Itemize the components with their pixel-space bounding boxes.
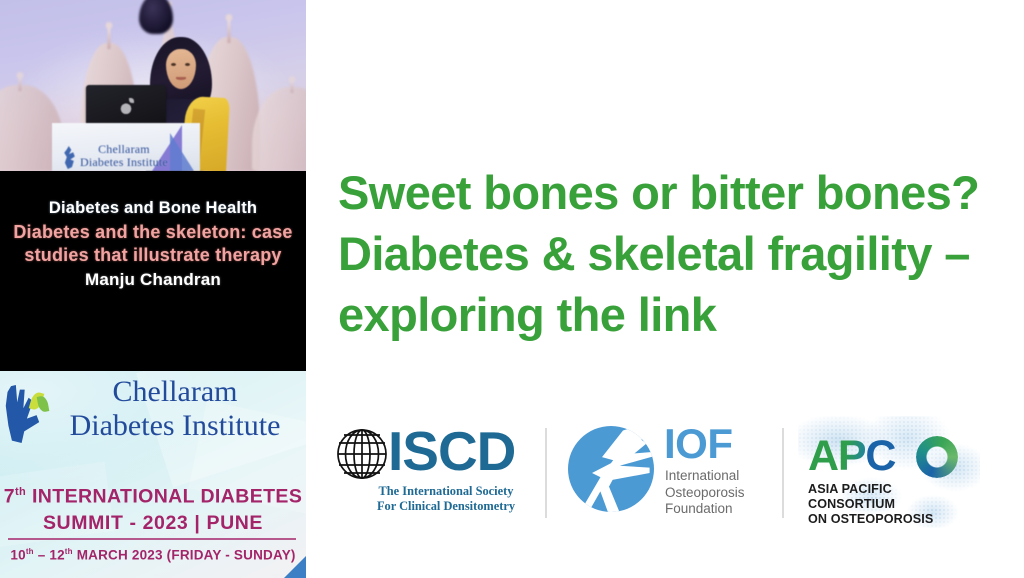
iscd-tagline-line2: For Clinical Densitometry xyxy=(358,499,534,514)
apco-tagline-line1: ASIA PACIFIC CONSORTIUM xyxy=(808,482,980,512)
iof-tagline-line1: International xyxy=(665,468,745,485)
speaker-eye-left xyxy=(171,63,176,66)
caption-line-title-1: Diabetes and the skeleton: case xyxy=(0,221,306,244)
iscd-logo-top: ISCD xyxy=(334,422,534,484)
apco-wordmark: APC xyxy=(808,432,895,480)
globe-wireframe-icon xyxy=(336,428,388,480)
apco-logo[interactable]: APC ASIA PACIFIC CONSORTIUM ON OSTEOPORO… xyxy=(798,416,980,528)
date-end-suffix: th xyxy=(65,547,73,556)
speaker-mouth xyxy=(176,77,186,80)
temple-spire-icon xyxy=(252,79,306,171)
iscd-tagline-line1: The International Society xyxy=(358,484,534,499)
presentation-slide: Chellaram Diabetes Institute Diabetes an… xyxy=(0,0,1024,578)
iscd-tagline: The International Society For Clinical D… xyxy=(358,484,534,514)
chellaram-bird-icon xyxy=(62,146,78,170)
date-separator: – 12 xyxy=(34,548,65,563)
summit-ordinal-suffix: th xyxy=(15,486,26,498)
slide-title: Sweet bones or bitter bones? Diabetes & … xyxy=(338,162,1008,345)
caption-line-topic: Diabetes and Bone Health xyxy=(0,197,306,219)
human-figure-circle-icon xyxy=(568,426,654,512)
conference-poster: Chellaram Diabetes Institute 7th INTERNA… xyxy=(0,371,306,578)
podium-logo-line2: Diabetes Institute xyxy=(80,156,168,169)
summit-ordinal-number: 7 xyxy=(4,486,15,508)
temple-dome-icon xyxy=(139,0,173,34)
apco-letter-p: P xyxy=(838,432,865,480)
poster-divider-rule xyxy=(8,538,296,540)
caption-line-speaker-name: Manju Chandran xyxy=(0,268,306,292)
poster-corner-triangle-icon xyxy=(284,556,306,578)
title-line-1: Sweet bones or bitter bones? xyxy=(338,162,1008,223)
podium-logo-text: Chellaram Diabetes Institute xyxy=(80,143,168,169)
apco-tagline: ASIA PACIFIC CONSORTIUM ON OSTEOPOROSIS xyxy=(808,482,980,527)
date-start-suffix: th xyxy=(26,547,34,556)
iof-logo[interactable]: IOF International Osteoporosis Foundatio… xyxy=(568,420,778,530)
poster-organization-name: Chellaram Diabetes Institute xyxy=(44,375,306,443)
iof-tagline-line2: Osteoporosis xyxy=(665,485,745,502)
apple-leaf-icon xyxy=(129,98,134,103)
iof-wordmark: IOF xyxy=(664,420,733,468)
sponsor-logo-strip: ISCD The International Society For Clini… xyxy=(330,414,990,534)
video-caption-band: Diabetes and Bone Health Diabetes and th… xyxy=(0,171,306,371)
poster-date-line: 10th – 12th MARCH 2023 (FRIDAY - SUNDAY) xyxy=(0,547,306,563)
left-media-column: Chellaram Diabetes Institute Diabetes an… xyxy=(0,0,306,578)
iscd-logo[interactable]: ISCD The International Society For Clini… xyxy=(334,422,534,526)
podium-triangle-blue xyxy=(170,133,194,171)
speaker-video-still[interactable]: Chellaram Diabetes Institute xyxy=(0,0,306,171)
org-name-line2: Diabetes Institute xyxy=(44,409,306,443)
apco-tagline-line2: ON OSTEOPOROSIS xyxy=(808,512,980,527)
caption-line-title-2: studies that illustrate therapy xyxy=(0,244,306,267)
apco-letter-c: C xyxy=(865,432,895,480)
org-name-line1: Chellaram xyxy=(44,375,306,409)
summit-title-line2: SUMMIT - 2023 | PUNE xyxy=(0,510,306,536)
summit-title-rest: INTERNATIONAL DIABETES xyxy=(26,486,302,508)
poster-summit-title: 7th INTERNATIONAL DIABETES SUMMIT - 2023… xyxy=(0,479,306,536)
logo-divider xyxy=(545,428,547,518)
date-start-day: 10 xyxy=(10,548,25,563)
logo-divider xyxy=(782,428,784,518)
apco-letter-o-ring xyxy=(916,436,958,478)
laptop-icon xyxy=(86,85,166,127)
iof-tagline-line3: Foundation xyxy=(665,501,745,518)
podium: Chellaram Diabetes Institute xyxy=(52,123,200,171)
speaker-eye-right xyxy=(185,63,190,66)
date-rest: MARCH 2023 (FRIDAY - SUNDAY) xyxy=(73,548,296,563)
summit-title-line1: 7th INTERNATIONAL DIABETES xyxy=(0,479,306,510)
apco-letter-a: A xyxy=(808,432,838,480)
iof-tagline: International Osteoporosis Foundation xyxy=(665,468,745,518)
iscd-wordmark: ISCD xyxy=(388,418,515,484)
title-line-2: Diabetes & skeletal fragility – xyxy=(338,223,1008,284)
title-line-3: exploring the link xyxy=(338,284,1008,345)
caption-text-stack: Diabetes and Bone Health Diabetes and th… xyxy=(0,197,306,292)
